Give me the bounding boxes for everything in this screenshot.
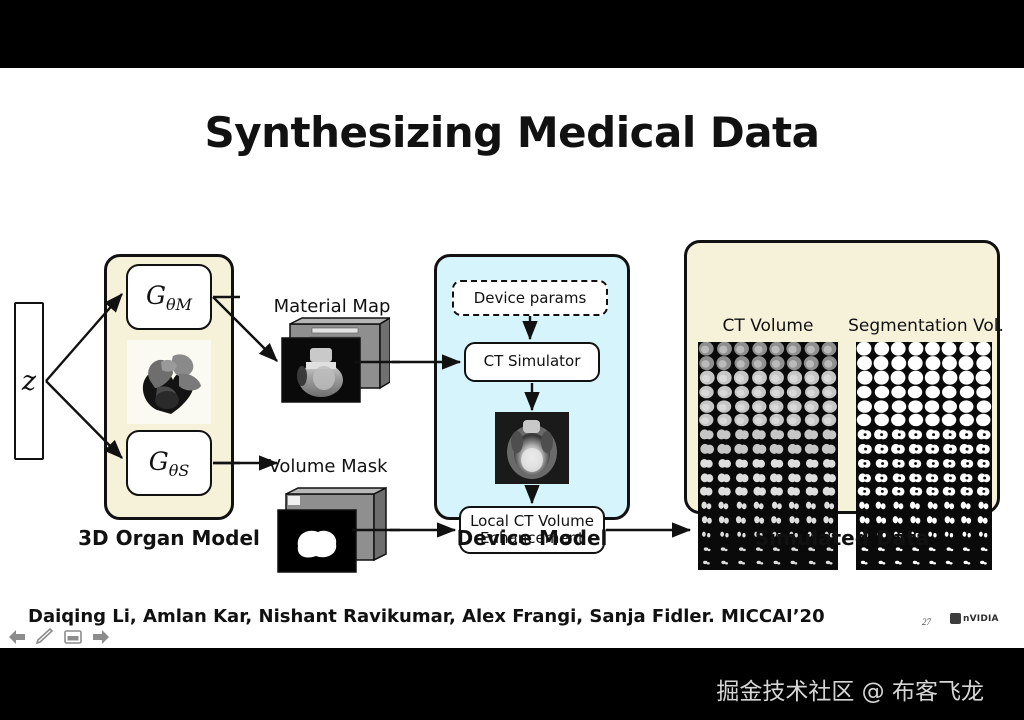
- slide-viewer: Synthesizing Medical Data z GθM: [0, 0, 1024, 720]
- page-title: Synthesizing Medical Data: [0, 108, 1024, 157]
- device-params-box: Device params: [452, 280, 608, 316]
- segmentation-volume-grid-title: Segmentation Vol.: [846, 316, 1006, 336]
- nvidia-eye-icon: [950, 613, 961, 624]
- volume-mask-title: Volume Mask: [228, 456, 428, 477]
- watermark-text: 掘金技术社区 @ 布客飞龙: [0, 672, 1024, 706]
- generator-shape-box: GθS: [126, 430, 212, 496]
- ct-volume-grid-title: CT Volume: [694, 316, 842, 336]
- organ-model-caption: 3D Organ Model: [64, 526, 274, 550]
- paper-credit: Daiqing Li, Amlan Kar, Nishant Ravikumar…: [28, 606, 825, 627]
- latent-vector-box: z: [14, 302, 44, 460]
- device-model-caption: Device Model: [424, 526, 640, 550]
- latent-vector-label: z: [16, 304, 42, 458]
- pen-tool-icon[interactable]: [34, 628, 56, 646]
- nvidia-logo: nVIDIA: [950, 613, 999, 624]
- credit-rest: , Amlan Kar, Nishant Ravikumar, Alex Fra…: [130, 606, 825, 627]
- generator-material-box: GθM: [126, 264, 212, 330]
- material-map-title: Material Map: [232, 296, 432, 317]
- nvidia-wordmark: nVIDIA: [963, 614, 999, 624]
- credit-lead-author: Daiqing Li: [28, 606, 130, 627]
- slide-overview-icon[interactable]: [62, 628, 84, 646]
- slide-canvas: Synthesizing Medical Data z GθM: [0, 68, 1024, 648]
- generator-shape-label: GθS: [149, 447, 190, 480]
- simulated-data-caption: Simulated Data: [684, 526, 1000, 550]
- page-number: 27: [922, 617, 931, 627]
- generator-material-label: GθM: [146, 281, 192, 314]
- volume-mask-cube: [268, 486, 388, 587]
- presentation-nav-controls[interactable]: [6, 628, 112, 646]
- letterbox-top: [0, 0, 1024, 68]
- ct-slice-preview: [495, 412, 569, 484]
- nav-previous-icon[interactable]: [6, 628, 28, 646]
- heart-organ-render: [127, 340, 211, 424]
- material-map-cube: [272, 316, 390, 417]
- ct-simulator-box: CT Simulator: [464, 342, 600, 382]
- nav-next-icon[interactable]: [90, 628, 112, 646]
